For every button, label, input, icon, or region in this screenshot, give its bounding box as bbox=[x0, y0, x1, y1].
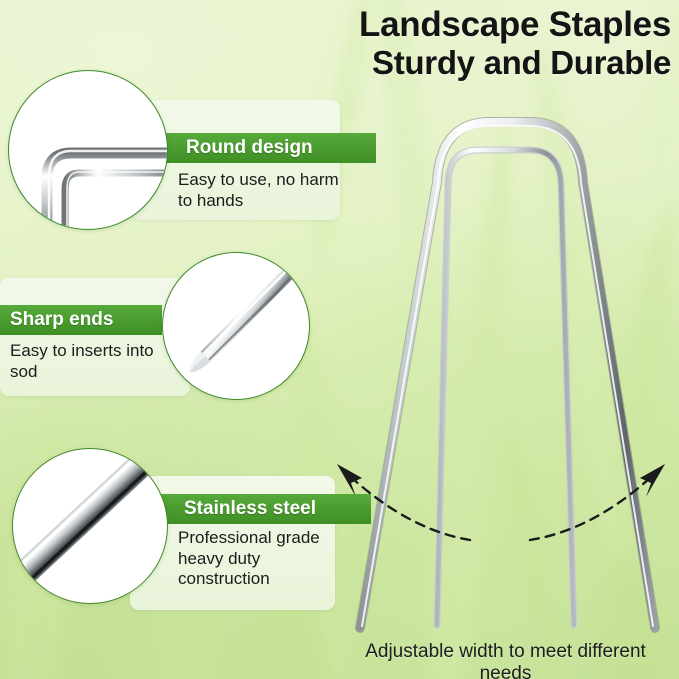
feature-description: Easy to use, no harm to hands bbox=[178, 170, 340, 211]
feature-zoom-circle-round-design bbox=[8, 70, 168, 230]
feature-banner: Round design bbox=[150, 133, 376, 163]
feature-banner-label: Stainless steel bbox=[184, 498, 316, 520]
feature-description: Professional grade heavy duty constructi… bbox=[178, 528, 328, 590]
feature-zoom-circle-stainless-steel bbox=[12, 448, 168, 604]
feature-description: Easy to inserts into sod bbox=[10, 341, 162, 382]
feature-zoom-circle-sharp-ends bbox=[162, 252, 310, 400]
rod-rounded-corner-icon bbox=[9, 71, 167, 229]
dashed-arrow-right-icon bbox=[530, 464, 665, 540]
product-infographic: Landscape Staples Sturdy and Durable bbox=[0, 0, 679, 679]
feature-banner: Stainless steel bbox=[148, 494, 371, 524]
feature-banner-label: Sharp ends bbox=[10, 309, 113, 331]
product-caption: Adjustable width to meet different needs bbox=[338, 641, 673, 679]
feature-banner-label: Round design bbox=[186, 137, 313, 159]
rod-shaft-icon bbox=[13, 449, 167, 603]
rod-sharp-tip-icon bbox=[163, 253, 309, 399]
feature-banner: Sharp ends bbox=[0, 305, 162, 335]
